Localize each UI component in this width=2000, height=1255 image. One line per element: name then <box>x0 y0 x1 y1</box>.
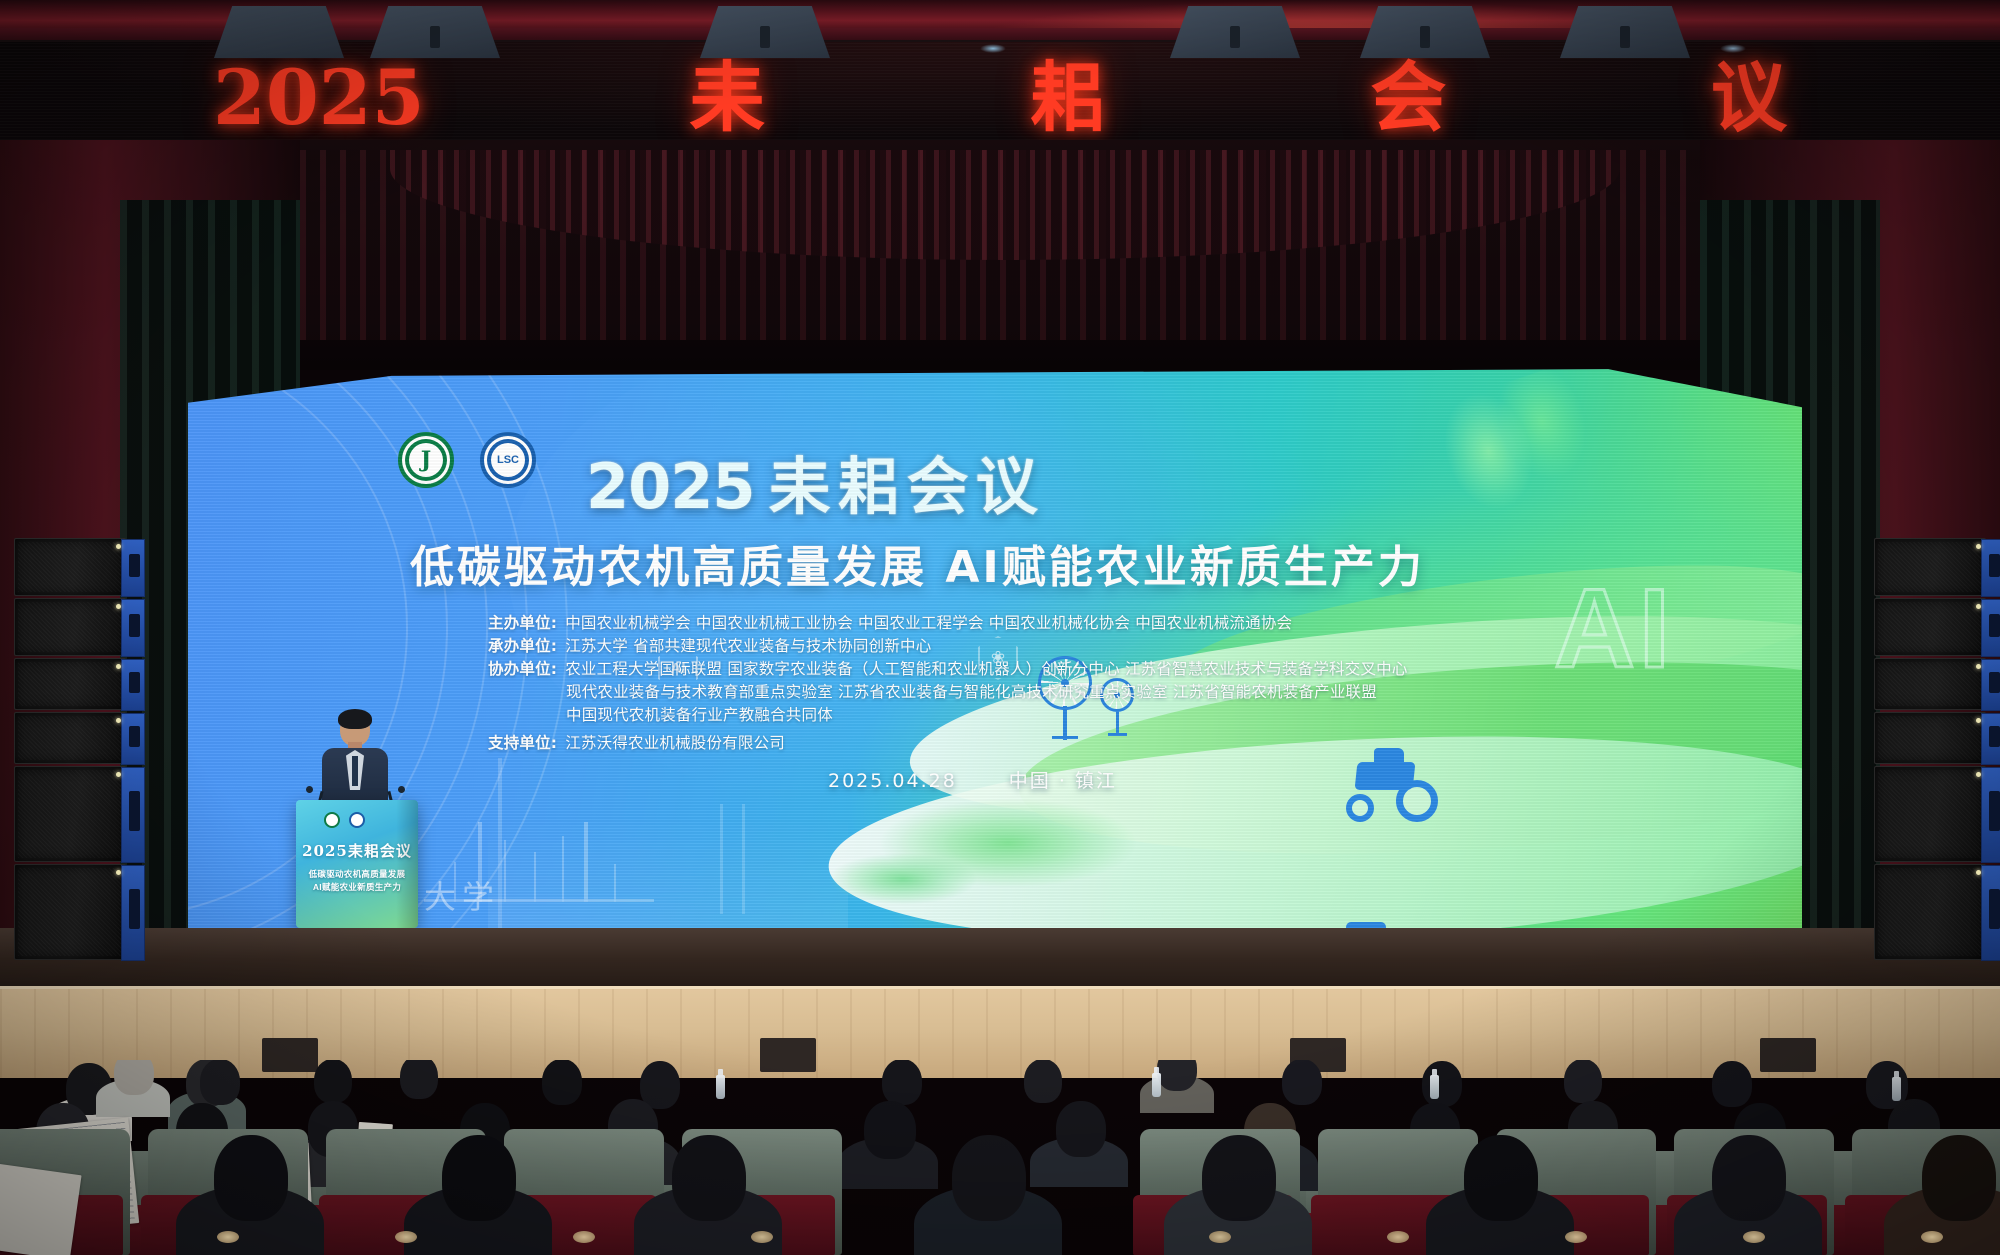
audience-member <box>1020 1060 1066 1103</box>
audience-member <box>310 1060 356 1103</box>
podium-lsc-logo <box>349 812 365 828</box>
organizer-value: 江苏大学 省部共建现代农业装备与技术协同创新中心 <box>565 635 931 658</box>
organizer-label: 协办单位: <box>488 658 557 681</box>
organizer-block: 主办单位: 中国农业机械学会 中国农业机械工业协会 中国农业工程学会 中国农业机… <box>488 612 1668 755</box>
audience-member <box>1560 1060 1606 1103</box>
podium-subtitle-line1: 低碳驱动农机高质量发展 <box>296 868 418 881</box>
organizer-row: 主办单位: 中国农业机械学会 中国农业机械工业协会 中国农业工程学会 中国农业机… <box>488 612 1668 635</box>
event-location: 中国 · 镇江 <box>1009 770 1117 792</box>
leaf-decoration <box>1427 368 1607 522</box>
conference-photo: 2025 耒 耜 会 议 <box>0 0 2000 1255</box>
audience-member <box>538 1060 586 1105</box>
stage-monitor <box>700 6 830 58</box>
main-led-screen: AI ❀ 江苏大学 AI J <box>188 368 1802 928</box>
stage-monitor <box>1170 6 1300 58</box>
organizer-row: 承办单位: 江苏大学 省部共建现代农业装备与技术协同创新中心 <box>488 635 1668 658</box>
screen-title-year: 2025 <box>586 450 755 523</box>
lsc-agricultural-machinery-logo: LSC <box>480 432 536 488</box>
organizer-value: 江苏沃得农业机械股份有限公司 <box>565 732 785 755</box>
audience-member <box>878 1060 926 1105</box>
line-array-speaker-stack-right <box>1874 538 1986 962</box>
event-datetime-location: 2025.04.28中国 · 镇江 <box>828 766 1117 793</box>
lsc-logo-mark: LSC <box>497 454 519 466</box>
audience-member <box>1452 1135 1548 1255</box>
stage-monitor <box>1360 6 1490 58</box>
jiangsu-university-logo: J <box>398 432 454 488</box>
stage-floor <box>0 928 2000 990</box>
podium-title: 2025耒耜会议 <box>296 840 418 861</box>
screen-main-title: 2025耒耜会议 <box>586 456 1045 518</box>
organizer-continuation: 现代农业装备与技术教育部重点实验室 江苏省农业装备与智能化高技术研究重点实验室 … <box>566 681 1668 704</box>
audience-member <box>396 1060 442 1099</box>
organizer-value: 农业工程大学国际联盟 国家数字农业装备（人工智能和农业机器人）创新分中心 江苏省… <box>565 658 1407 681</box>
audience-member <box>196 1060 244 1105</box>
audience-area <box>0 1060 2000 1255</box>
microphone-head-left <box>306 786 313 793</box>
microphone-head-right <box>398 786 405 793</box>
stage-monitor <box>214 6 344 58</box>
audience-member <box>1048 1107 1112 1181</box>
audience-member <box>1418 1060 1466 1107</box>
audience-member <box>108 1060 158 1113</box>
podium-subtitle: 低碳驱动农机高质量发展 AI赋能农业新质生产力 <box>296 868 418 894</box>
audience-member <box>430 1135 526 1255</box>
water-bottle <box>1430 1075 1439 1099</box>
organizer-value: 中国农业机械学会 中国农业机械工业协会 中国农业工程学会 中国农业机械化协会 中… <box>565 612 1292 635</box>
audience-member <box>856 1107 922 1183</box>
jiangsu-university-logo-mark: J <box>421 447 431 473</box>
podium-jiangsu-logo <box>324 812 340 828</box>
podium-logo-row <box>324 812 365 828</box>
program-booklet <box>0 1163 82 1255</box>
audience-member <box>1278 1060 1326 1105</box>
tractor-icon <box>1326 756 1446 822</box>
water-bottle <box>1152 1073 1161 1097</box>
organizer-label: 支持单位: <box>488 732 557 755</box>
organizer-row: 支持单位: 江苏沃得农业机械股份有限公司 <box>488 732 1668 755</box>
water-bottle <box>1892 1077 1901 1101</box>
audience-member <box>1708 1060 1756 1107</box>
organizer-continuation: 中国现代农机装备行业产教融合共同体 <box>566 704 1668 727</box>
screen-title-cn: 耒耜会议 <box>769 450 1045 523</box>
organizer-label: 承办单位: <box>488 635 557 658</box>
field-dot-cluster-2 <box>828 853 978 905</box>
screen-logo-row: J LSC <box>398 432 536 488</box>
stage-monitor <box>1560 6 1690 58</box>
podium: 2025耒耜会议 低碳驱动农机高质量发展 AI赋能农业新质生产力 <box>296 800 418 928</box>
organizer-row: 协办单位: 农业工程大学国际联盟 国家数字农业装备（人工智能和农业机器人）创新分… <box>488 658 1668 681</box>
silo-lineart <box>708 804 828 914</box>
audience-member <box>660 1135 756 1255</box>
organizer-label: 主办单位: <box>488 612 557 635</box>
stage-monitor <box>370 6 500 58</box>
audience-member <box>1190 1135 1286 1255</box>
podium-subtitle-line2: AI赋能农业新质生产力 <box>296 881 418 894</box>
screen-subtitle: 低碳驱动农机高质量发展 AI赋能农业新质生产力 <box>410 546 1425 590</box>
audience-member <box>940 1135 1036 1255</box>
event-date: 2025.04.28 <box>828 770 957 792</box>
water-bottle <box>716 1075 725 1099</box>
presenter <box>318 712 392 808</box>
line-array-speaker-stack-left <box>14 538 126 962</box>
